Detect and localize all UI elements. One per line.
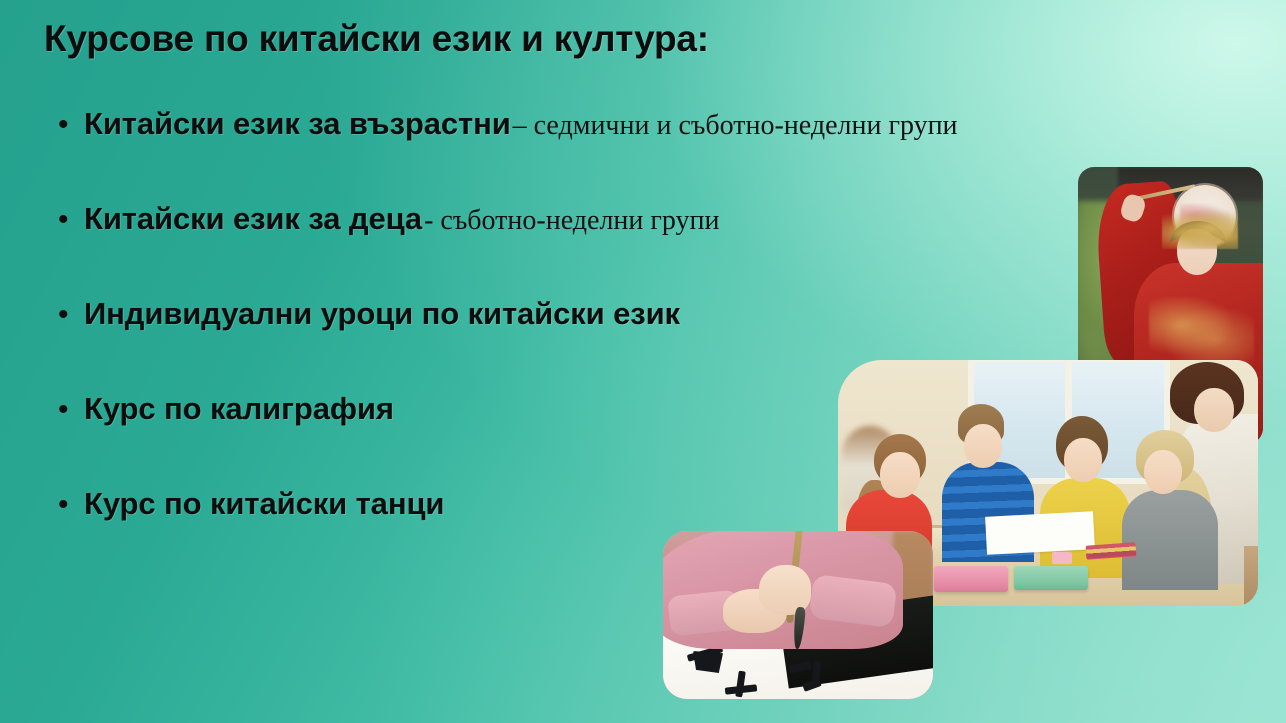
list-item-title: Китайски език за деца [84,201,422,237]
slide-canvas: Курсове по китайски език и култура: • Ки… [0,0,1286,723]
photo-green-notebook-detail [1014,566,1088,590]
bullet-icon: • [58,205,84,235]
bullet-icon: • [58,300,84,330]
list-item-detail: – седмични и съботно-неделни групи [513,110,958,142]
list-item-title: Китайски език за възрастни [84,106,511,142]
page-title: Курсове по китайски език и култура: [44,18,709,60]
list-item-title: Индивидуални уроци по китайски език [84,296,680,332]
photo-ink-stroke-detail [693,651,723,673]
calligraphy-brush-photo [663,531,933,699]
list-item-title: Курс по калиграфия [84,391,394,427]
photo-headdress-detail [1162,209,1238,249]
bullet-icon: • [58,395,84,425]
photo-eraser-detail [1052,552,1072,564]
photo-pink-notebook-detail [934,566,1008,592]
bullet-icon: • [58,110,84,140]
photo-worksheet-detail [985,511,1095,555]
bullet-icon: • [58,490,84,520]
list-item[interactable]: • Китайски език за деца - съботно-неделн… [58,201,1148,296]
list-item[interactable]: • Китайски език за възрастни – седмични … [58,106,1148,201]
list-item-detail: - съботно-неделни групи [424,205,719,237]
list-item-title: Курс по китайски танци [84,486,444,522]
